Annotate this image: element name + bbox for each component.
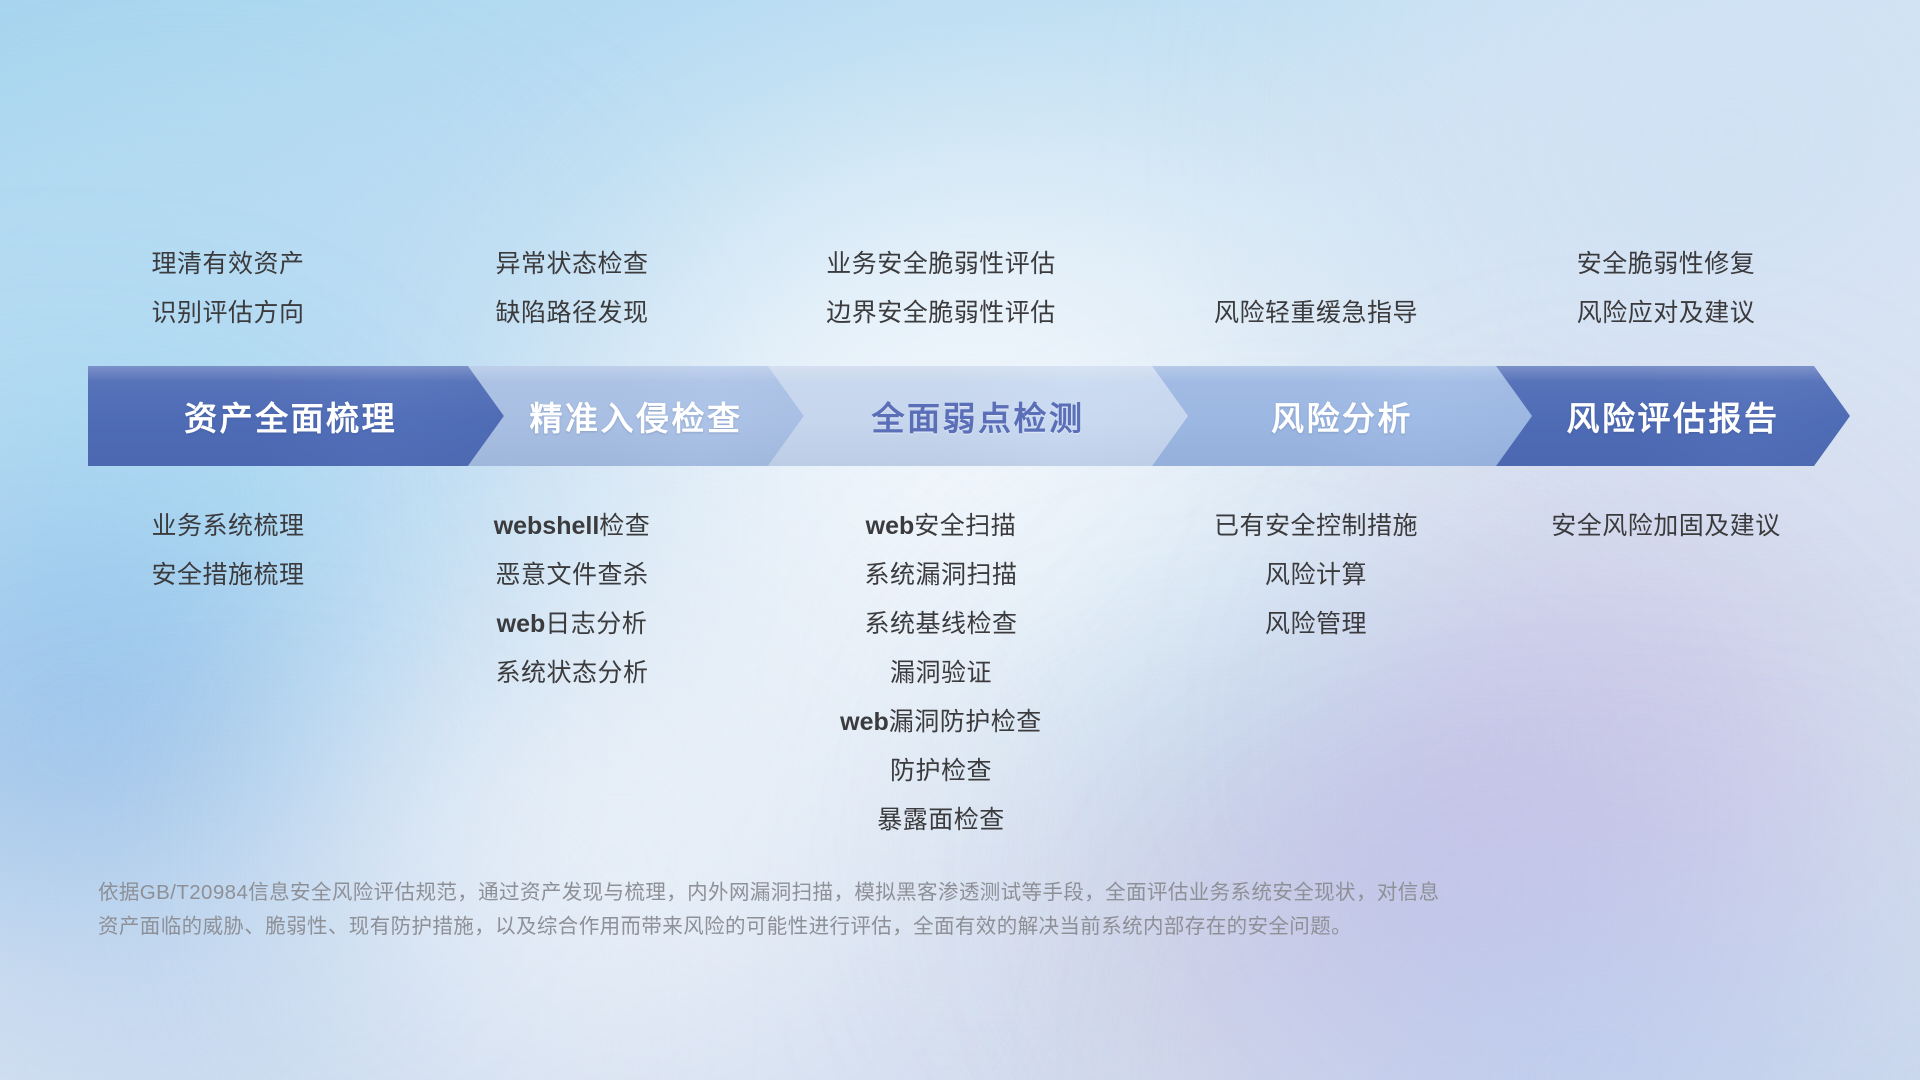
process-stage-3[interactable]: 全面弱点检测 [768,366,1188,466]
process-stage-4[interactable]: 风险分析 [1152,366,1532,466]
footnote-line-2: 资产面临的威胁、脆弱性、现有防护措施，以及综合作用而带来风险的可能性进行评估，全… [98,910,1658,944]
stage-5-input-2: 风险应对及建议 [1366,289,1920,338]
process-stage-1[interactable]: 资产全面梳理 [88,366,504,466]
process-stage-4-label: 风险分析 [1271,392,1413,440]
process-stage-1-label: 资产全面梳理 [184,392,397,440]
stage-3-output-7: 暴露面检查 [641,796,1241,845]
process-stage-2[interactable]: 精准入侵检查 [468,366,804,466]
process-stage-3-label: 全面弱点检测 [872,392,1085,440]
process-stage-2-label: 精准入侵检查 [530,392,743,440]
stage-3-output-5: web漏洞防护检查 [641,698,1241,747]
stage-5-inputs: 安全脆弱性修复风险应对及建议 [1366,240,1920,338]
stage-5-input-1: 安全脆弱性修复 [1366,240,1920,289]
footnote-line-1: 依据GB/T20984信息安全风险评估规范，通过资产发现与梳理，内外网漏洞扫描，… [98,876,1658,910]
stage-3-output-6: 防护检查 [641,747,1241,796]
stage-5-outputs: 安全风险加固及建议 [1366,502,1920,551]
stage-3-output-4: 漏洞验证 [641,649,1241,698]
stage-3-input-1: 业务安全脆弱性评估 [641,240,1241,289]
stage-4-output-3: 风险管理 [1016,600,1616,649]
footnote-paragraph: 依据GB/T20984信息安全风险评估规范，通过资产发现与梳理，内外网漏洞扫描，… [98,876,1658,944]
process-stage-5[interactable]: 风险评估报告 [1496,366,1850,466]
stage-5-output-1: 安全风险加固及建议 [1366,502,1920,551]
process-flow-banner: 资产全面梳理精准入侵检查全面弱点检测风险分析风险评估报告 [88,366,1850,466]
slide-content: 理清有效资产识别评估方向异常状态检查缺陷路径发现业务安全脆弱性评估边界安全脆弱性… [0,0,1920,1080]
stage-4-output-2: 风险计算 [1016,551,1616,600]
process-stage-5-label: 风险评估报告 [1567,392,1780,440]
